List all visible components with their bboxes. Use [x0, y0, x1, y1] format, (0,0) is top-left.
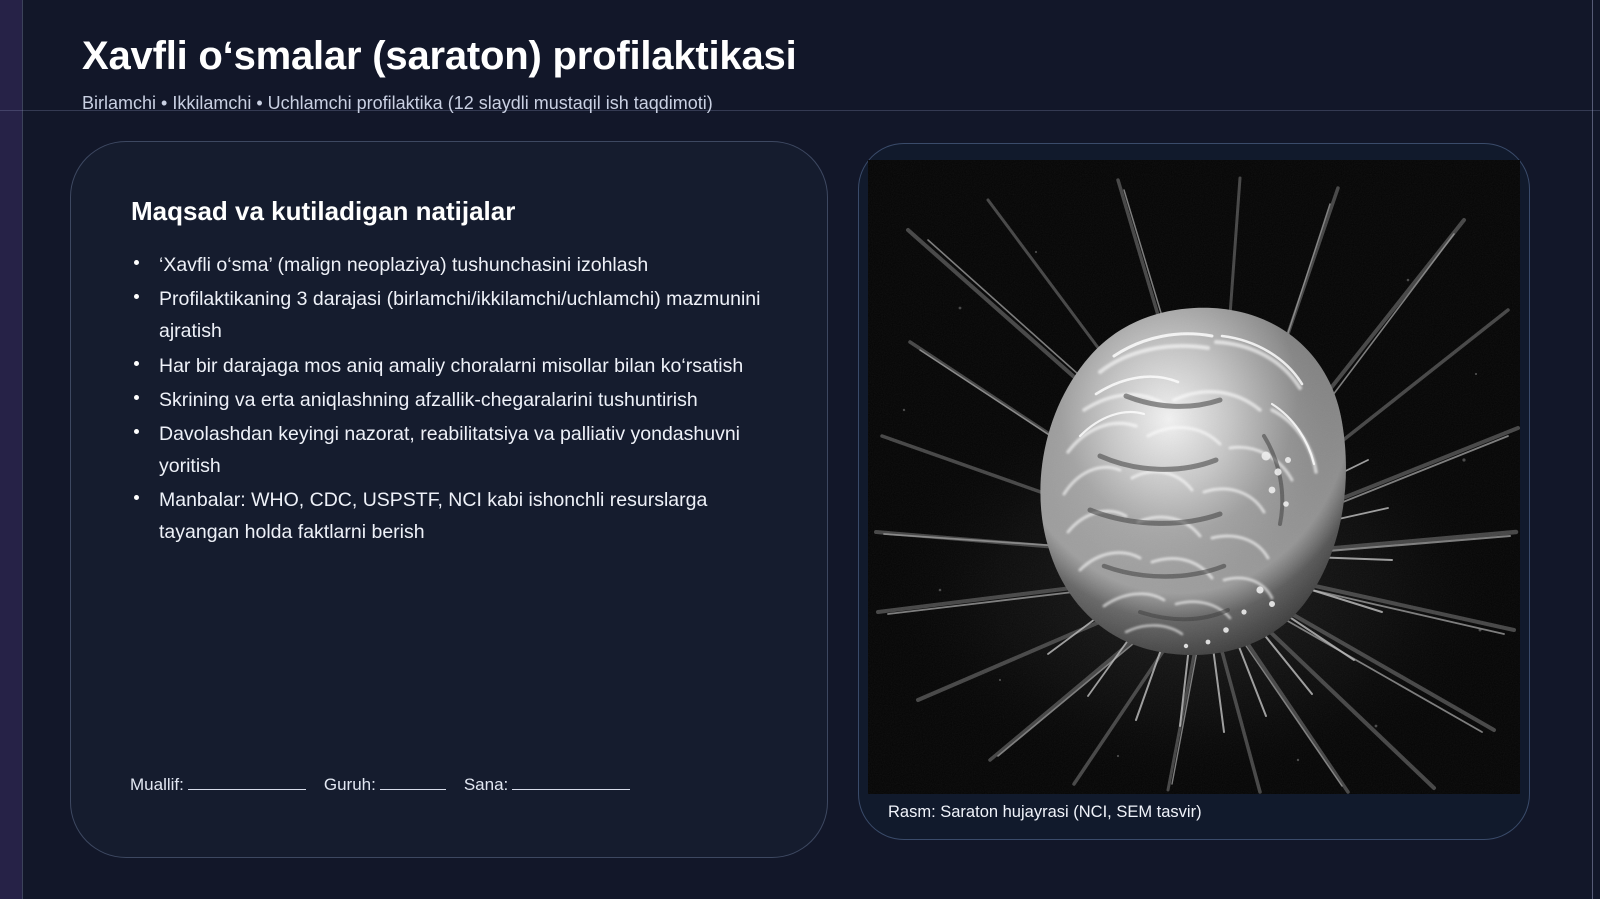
bullet-dot-icon [134, 294, 139, 299]
list-item-text: Manbalar: WHO, CDC, USPSTF, NCI kabi ish… [159, 489, 707, 543]
left-accent-bar-edge [22, 0, 23, 899]
image-caption: Rasm: Saraton hujayrasi (NCI, SEM tasvir… [888, 803, 1202, 822]
page-subtitle: Birlamchi • Ikkilamchi • Uchlamchi profi… [82, 93, 1082, 114]
bullet-dot-icon [134, 260, 139, 265]
group-label: Guruh: [324, 775, 376, 794]
slide-header: Xavfli o‘smalar (saraton) profilaktikasi… [82, 34, 1082, 114]
bullet-dot-icon [134, 495, 139, 500]
list-item: Davolashdan keyingi nazorat, reabilitats… [131, 418, 769, 482]
left-accent-bar [0, 0, 22, 899]
bullet-dot-icon [134, 361, 139, 366]
list-item: Skrining va erta aniqlashning afzallik-c… [131, 384, 769, 416]
list-item: Profilaktikaning 3 darajasi (birlamchi/i… [131, 283, 769, 347]
bullet-dot-icon [134, 395, 139, 400]
bullet-dot-icon [134, 429, 139, 434]
list-item-text: ‘Xavfli o‘sma’ (malign neoplaziya) tushu… [159, 254, 648, 276]
content-card: Maqsad va kutiladigan natijalar ‘Xavfli … [70, 141, 828, 858]
list-item: Har bir darajaga mos aniq amaliy chorala… [131, 350, 769, 382]
list-item: Manbalar: WHO, CDC, USPSTF, NCI kabi ish… [131, 484, 769, 548]
list-item-text: Har bir darajaga mos aniq amaliy chorala… [159, 355, 743, 377]
date-label: Sana: [464, 775, 508, 794]
cancer-cell-photo [868, 160, 1520, 794]
author-fillin-row: Muallif:Guruh:Sana: [130, 773, 648, 795]
right-edge-rule [1592, 0, 1593, 899]
group-blank[interactable] [380, 773, 446, 790]
list-item: ‘Xavfli o‘sma’ (malign neoplaziya) tushu… [131, 249, 769, 281]
page-title: Xavfli o‘smalar (saraton) profilaktikasi [82, 34, 1082, 79]
date-blank[interactable] [512, 773, 630, 790]
card-heading: Maqsad va kutiladigan natijalar [131, 196, 769, 227]
objectives-list: ‘Xavfli o‘sma’ (malign neoplaziya) tushu… [131, 249, 769, 549]
list-item-text: Profilaktikaning 3 darajasi (birlamchi/i… [159, 288, 760, 342]
author-label: Muallif: [130, 775, 184, 794]
list-item-text: Skrining va erta aniqlashning afzallik-c… [159, 389, 698, 411]
author-blank[interactable] [188, 773, 306, 790]
list-item-text: Davolashdan keyingi nazorat, reabilitats… [159, 423, 740, 477]
